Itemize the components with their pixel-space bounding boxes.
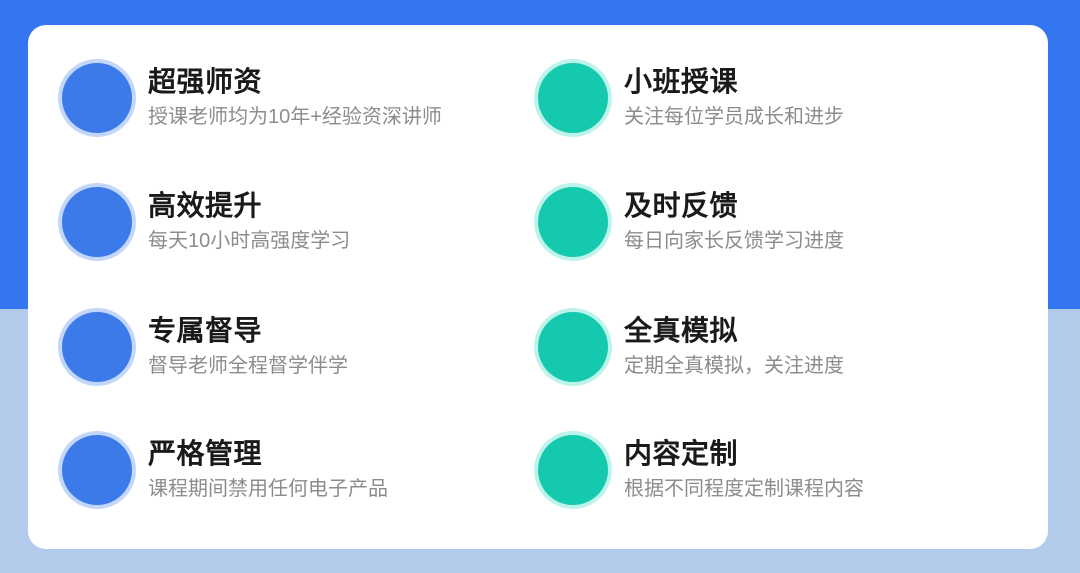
feature-text: 超强师资 授课老师均为10年+经验资深讲师	[148, 65, 442, 132]
feature-grid: 超强师资 授课老师均为10年+经验资深讲师 高效提升 每天10小时高强度学习 专…	[28, 25, 1048, 549]
feature-text: 全真模拟 定期全真模拟，关注进度	[624, 314, 844, 381]
feature-item-efficient-improvement[interactable]: 高效提升 每天10小时高强度学习	[62, 174, 542, 270]
teal-dot-icon	[538, 63, 608, 133]
feature-description: 定期全真模拟，关注进度	[624, 353, 844, 380]
feature-title: 内容定制	[624, 437, 864, 471]
feature-title: 全真模拟	[624, 314, 844, 348]
feature-item-strict-management[interactable]: 严格管理 课程期间禁用任何电子产品	[62, 422, 542, 518]
feature-text: 小班授课 关注每位学员成长和进步	[624, 65, 844, 132]
feature-item-timely-feedback[interactable]: 及时反馈 每日向家长反馈学习进度	[538, 174, 1018, 270]
feature-item-full-simulation[interactable]: 全真模拟 定期全真模拟，关注进度	[538, 299, 1018, 395]
feature-description: 根据不同程度定制课程内容	[624, 476, 864, 503]
feature-card: 超强师资 授课老师均为10年+经验资深讲师 高效提升 每天10小时高强度学习 专…	[28, 25, 1048, 549]
feature-text: 严格管理 课程期间禁用任何电子产品	[148, 437, 388, 504]
feature-description: 每日向家长反馈学习进度	[624, 228, 844, 255]
blue-dot-icon	[62, 312, 132, 382]
feature-item-custom-content[interactable]: 内容定制 根据不同程度定制课程内容	[538, 422, 1018, 518]
feature-description: 关注每位学员成长和进步	[624, 104, 844, 131]
feature-title: 小班授课	[624, 65, 844, 99]
teal-dot-icon	[538, 312, 608, 382]
feature-description: 课程期间禁用任何电子产品	[148, 476, 388, 503]
blue-dot-icon	[62, 187, 132, 257]
feature-title: 高效提升	[148, 189, 350, 223]
teal-dot-icon	[538, 187, 608, 257]
feature-description: 授课老师均为10年+经验资深讲师	[148, 104, 442, 131]
feature-text: 及时反馈 每日向家长反馈学习进度	[624, 189, 844, 256]
feature-description: 督导老师全程督学伴学	[148, 353, 348, 380]
blue-dot-icon	[62, 435, 132, 505]
feature-highlights-page: 超强师资 授课老师均为10年+经验资深讲师 高效提升 每天10小时高强度学习 专…	[0, 0, 1080, 573]
feature-text: 高效提升 每天10小时高强度学习	[148, 189, 350, 256]
feature-title: 严格管理	[148, 437, 388, 471]
feature-item-dedicated-supervision[interactable]: 专属督导 督导老师全程督学伴学	[62, 299, 542, 395]
feature-item-small-class[interactable]: 小班授课 关注每位学员成长和进步	[538, 50, 1018, 146]
blue-dot-icon	[62, 63, 132, 133]
feature-description: 每天10小时高强度学习	[148, 228, 350, 255]
feature-title: 专属督导	[148, 314, 348, 348]
feature-title: 超强师资	[148, 65, 442, 99]
feature-text: 内容定制 根据不同程度定制课程内容	[624, 437, 864, 504]
feature-item-superior-faculty[interactable]: 超强师资 授课老师均为10年+经验资深讲师	[62, 50, 542, 146]
feature-title: 及时反馈	[624, 189, 844, 223]
teal-dot-icon	[538, 435, 608, 505]
feature-text: 专属督导 督导老师全程督学伴学	[148, 314, 348, 381]
